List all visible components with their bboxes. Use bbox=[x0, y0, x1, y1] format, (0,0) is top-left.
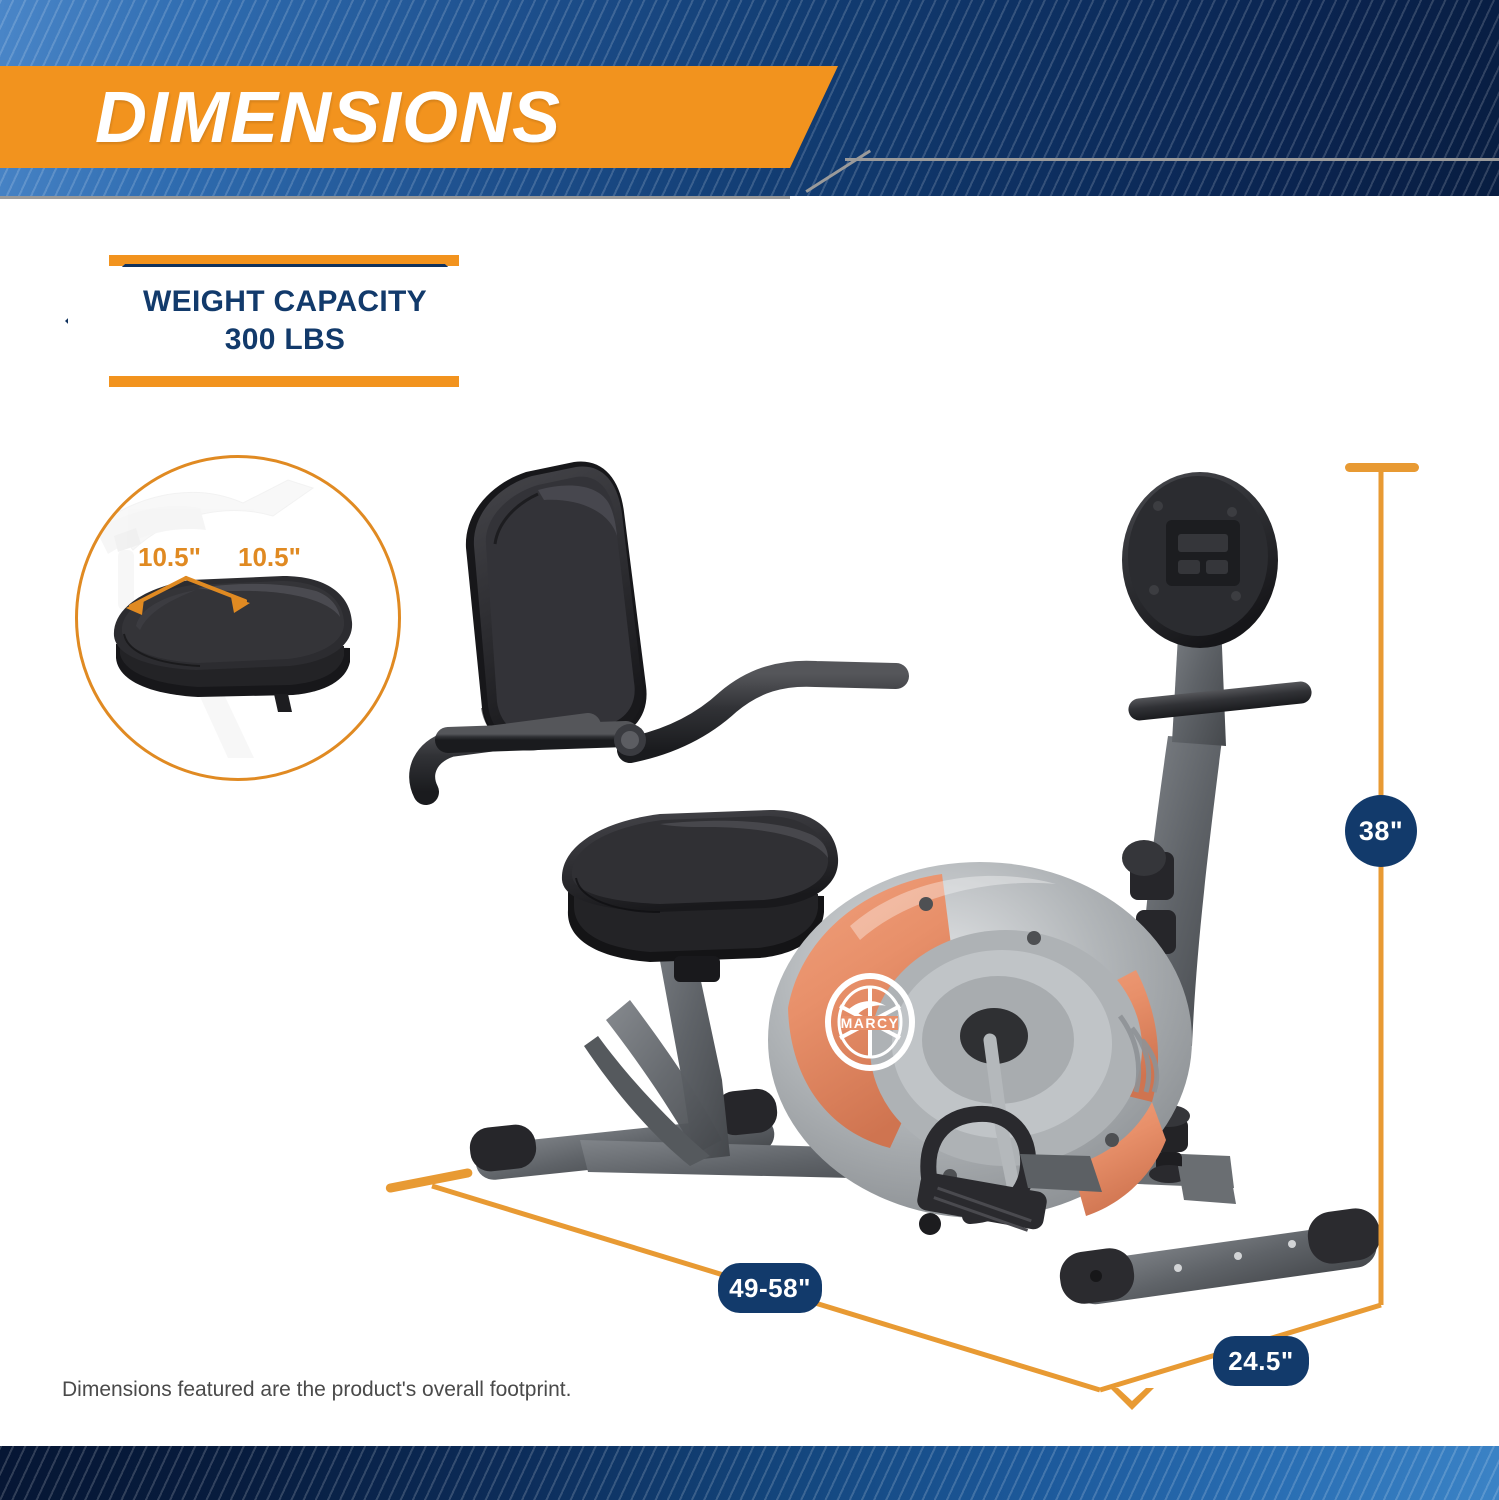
front-stabilizer bbox=[1057, 1205, 1384, 1307]
depth-dimension-badge: 24.5" bbox=[1213, 1336, 1309, 1386]
page-title: DIMENSIONS bbox=[95, 78, 561, 158]
header-divider-right bbox=[845, 158, 1499, 161]
svg-text:MARCY: MARCY bbox=[841, 1015, 900, 1031]
header-banner: DIMENSIONS bbox=[0, 0, 1499, 196]
height-dimension-badge: 38" bbox=[1345, 795, 1417, 867]
weight-capacity-text: WEIGHT CAPACITY 300 LBS bbox=[65, 264, 505, 378]
seat-dim-left-label: 10.5" bbox=[138, 542, 201, 573]
footnote-text: Dimensions featured are the product's ov… bbox=[62, 1378, 571, 1402]
marcy-logo: MARCY bbox=[828, 976, 912, 1068]
header-divider-left bbox=[0, 196, 790, 199]
length-dimension-badge: 49-58" bbox=[718, 1263, 822, 1313]
weight-capacity-value: 300 LBS bbox=[225, 321, 346, 359]
weight-capacity-label: WEIGHT CAPACITY bbox=[143, 283, 427, 321]
footer-banner bbox=[0, 1446, 1499, 1500]
header-divider-diagonal bbox=[786, 160, 848, 200]
footer-stripe-pattern bbox=[0, 1446, 1499, 1500]
backrest-cushion bbox=[466, 461, 647, 750]
product-image-recumbent-bike: MARCY bbox=[330, 440, 1390, 1360]
armrest-pivot bbox=[614, 724, 646, 756]
console-display bbox=[1122, 472, 1278, 648]
chevron-down-icon bbox=[1110, 1388, 1154, 1412]
weight-capacity-badge: WEIGHT CAPACITY 300 LBS bbox=[65, 255, 505, 387]
seat-dim-right-label: 10.5" bbox=[238, 542, 301, 573]
infographic-canvas: DIMENSIONS WEIGHT CAPACITY 300 LBS bbox=[0, 0, 1499, 1500]
